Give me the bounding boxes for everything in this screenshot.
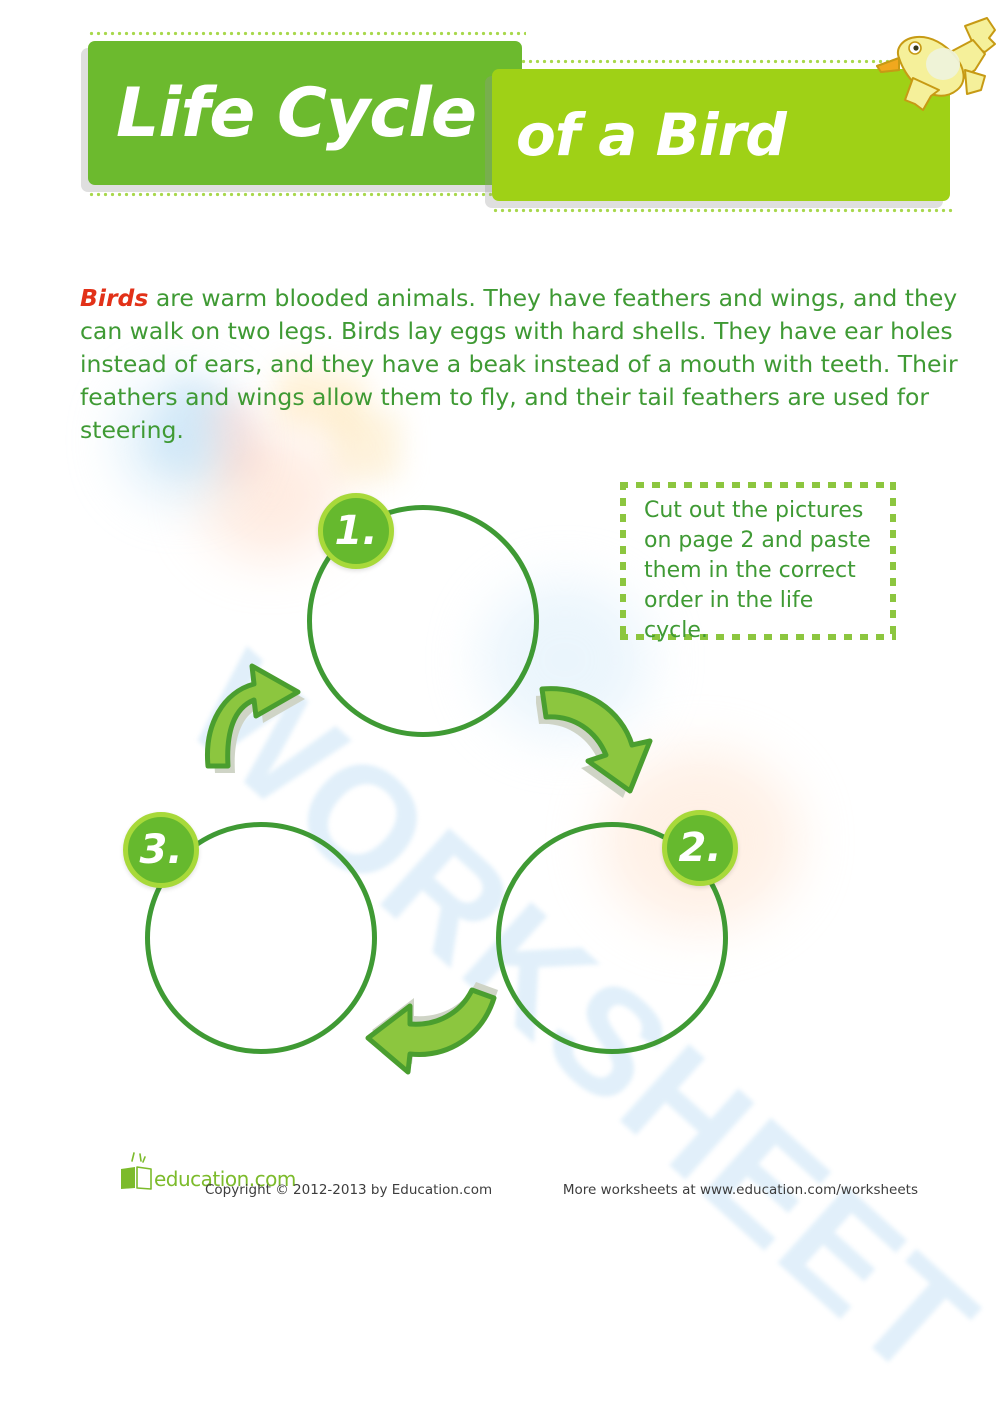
copyright-text: Copyright © 2012-2013 by Education.com	[205, 1182, 492, 1198]
step-badge-2: 2.	[662, 810, 738, 886]
intro-body-text: are warm blooded animals. They have feat…	[80, 284, 958, 444]
arrow-step1-to-step2-icon	[536, 675, 662, 801]
instructions-line-2: on page 2 and paste	[644, 526, 880, 556]
title-banner-primary: Life Cycle	[88, 41, 522, 185]
page-title-part-1: Life Cycle	[88, 74, 476, 153]
arrow-step2-to-step3-icon	[362, 980, 502, 1080]
flying-bird-icon	[869, 14, 997, 120]
instructions-box: Cut out the pictures on page 2 and paste…	[620, 482, 896, 640]
more-worksheets-link[interactable]: More worksheets at www.education.com/wor…	[563, 1182, 918, 1198]
instructions-text: Cut out the pictures on page 2 and paste…	[644, 496, 880, 646]
instructions-line-1: Cut out the pictures	[644, 496, 880, 526]
intro-paragraph: Birds are warm blooded animals. They hav…	[80, 282, 960, 447]
page-header: Life Cycle of a Bird	[0, 0, 1000, 240]
instructions-line-4: order in the life cycle.	[644, 586, 880, 646]
instructions-border-right	[890, 482, 896, 640]
instructions-border-left	[620, 482, 626, 640]
intro-lead-word: Birds	[80, 284, 148, 312]
step-badge-3: 3.	[123, 812, 199, 888]
page-title-part-2: of a Bird	[492, 101, 786, 169]
instructions-line-3: them in the correct	[644, 556, 880, 586]
header-dotted-line-top-left	[88, 31, 526, 36]
header-dotted-line-bottom-left	[88, 192, 526, 197]
step-badge-1: 1.	[318, 493, 394, 569]
instructions-border-top	[620, 482, 896, 488]
header-dotted-line-bottom-right	[492, 208, 954, 213]
open-book-icon	[118, 1151, 154, 1191]
arrow-step3-to-step1-icon	[194, 658, 310, 774]
page-footer: education.com Copyright © 2012-2013 by E…	[0, 1145, 1000, 1215]
